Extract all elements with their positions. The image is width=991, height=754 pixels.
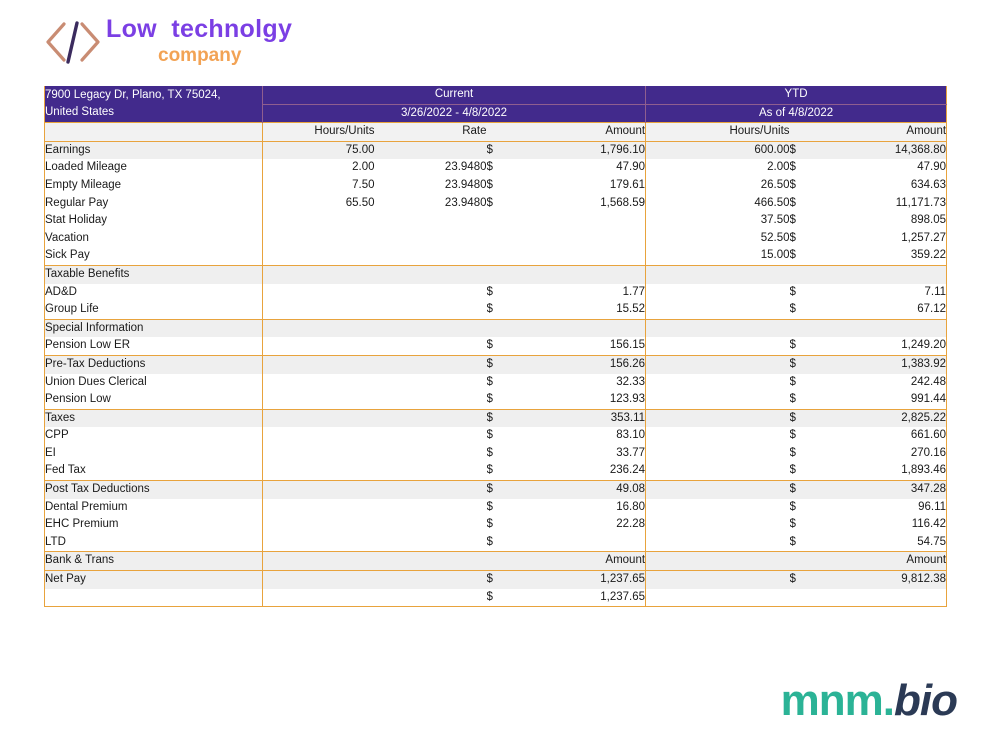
ytd-amount: 67.12: [806, 301, 947, 319]
brand-name-secondary: company: [106, 44, 446, 67]
current-amount: [503, 212, 646, 230]
ytd-hours-units: [646, 337, 790, 355]
brand-wordmark: Low technolgy company: [106, 14, 446, 67]
table-row: Group Life$15.52$67.12: [45, 301, 947, 319]
table-row: $1,237.65: [45, 589, 947, 607]
current-rate: 23.9480: [375, 195, 487, 213]
ytd-hours-units: [646, 552, 790, 571]
table-row: Earnings75.00$1,796.10600.00$14,368.80: [45, 141, 947, 159]
row-label: Pre-Tax Deductions: [45, 355, 263, 373]
current-hours-units: [263, 409, 375, 427]
current-amount: 156.26: [503, 355, 646, 373]
ytd-currency: $: [790, 195, 806, 213]
current-rate: [375, 284, 487, 302]
col-current-currency: [487, 123, 503, 142]
ytd-currency: $: [790, 301, 806, 319]
current-amount: [503, 319, 646, 337]
current-amount: 33.77: [503, 445, 646, 463]
row-label: Sick Pay: [45, 247, 263, 265]
row-label: Group Life: [45, 301, 263, 319]
current-hours-units: [263, 374, 375, 392]
row-label: Loaded Mileage: [45, 159, 263, 177]
current-amount: [503, 534, 646, 552]
current-amount: 1.77: [503, 284, 646, 302]
current-rate: [375, 265, 487, 283]
ytd-currency: $: [790, 159, 806, 177]
ytd-hours-units: [646, 427, 790, 445]
code-brackets-icon: [44, 20, 102, 64]
current-rate: [375, 212, 487, 230]
current-rate: [375, 301, 487, 319]
current-rate: [375, 337, 487, 355]
table-row: Fed Tax$236.24$1,893.46: [45, 462, 947, 480]
current-currency: $: [487, 462, 503, 480]
table-row: LTD$$54.75: [45, 534, 947, 552]
current-rate: 23.9480: [375, 177, 487, 195]
ytd-amount: 347.28: [806, 481, 947, 499]
current-hours-units: [263, 337, 375, 355]
current-currency: $: [487, 499, 503, 517]
row-label: Union Dues Clerical: [45, 374, 263, 392]
ytd-currency: $: [790, 374, 806, 392]
brand-name-primary: Low technolgy: [106, 14, 446, 44]
current-rate: [375, 462, 487, 480]
table-row: EHC Premium$22.28$116.42: [45, 516, 947, 534]
current-hours-units: [263, 481, 375, 499]
ytd-hours-units: 466.50: [646, 195, 790, 213]
table-row: Special Information: [45, 319, 947, 337]
row-label: LTD: [45, 534, 263, 552]
table-row: Taxable Benefits: [45, 265, 947, 283]
current-rate: [375, 427, 487, 445]
current-currency: $: [487, 141, 503, 159]
ytd-currency: $: [790, 571, 806, 589]
current-currency: [487, 319, 503, 337]
current-rate: [375, 534, 487, 552]
ytd-currency: $: [790, 516, 806, 534]
col-current-hours-units: Hours/Units: [263, 123, 375, 142]
current-amount: 1,796.10: [503, 141, 646, 159]
ytd-hours-units: [646, 445, 790, 463]
current-currency: $: [487, 534, 503, 552]
current-rate: [375, 499, 487, 517]
ytd-hours-units: [646, 534, 790, 552]
row-label: Special Information: [45, 319, 263, 337]
current-hours-units: [263, 589, 375, 607]
ytd-amount: 242.48: [806, 374, 947, 392]
current-currency: $: [487, 355, 503, 373]
current-currency: $: [487, 427, 503, 445]
ytd-hours-units: [646, 391, 790, 409]
current-currency: [487, 265, 503, 283]
current-hours-units: 65.50: [263, 195, 375, 213]
col-ytd-amount: Amount: [806, 123, 947, 142]
current-rate: [375, 391, 487, 409]
ytd-amount: 2,825.22: [806, 409, 947, 427]
current-amount: 16.80: [503, 499, 646, 517]
row-label: Taxes: [45, 409, 263, 427]
ytd-hours-units: [646, 481, 790, 499]
ytd-currency: [790, 265, 806, 283]
ytd-amount: Amount: [806, 552, 947, 571]
current-amount: 83.10: [503, 427, 646, 445]
col-current-rate: Rate: [375, 123, 487, 142]
current-currency: [487, 247, 503, 265]
col-current-amount: Amount: [503, 123, 646, 142]
ytd-hours-units: [646, 284, 790, 302]
ytd-currency: $: [790, 427, 806, 445]
ytd-hours-units: [646, 301, 790, 319]
ytd-amount: [806, 265, 947, 283]
current-hours-units: [263, 552, 375, 571]
current-rate: [375, 374, 487, 392]
table-row: Empty Mileage7.5023.9480$179.6126.50$634…: [45, 177, 947, 195]
ytd-currency: $: [790, 284, 806, 302]
row-label: EI: [45, 445, 263, 463]
row-label: Empty Mileage: [45, 177, 263, 195]
table-row: Stat Holiday37.50$898.05: [45, 212, 947, 230]
row-label: Stat Holiday: [45, 212, 263, 230]
current-rate: [375, 516, 487, 534]
ytd-currency: [790, 589, 806, 607]
row-label: Pension Low ER: [45, 337, 263, 355]
current-hours-units: [263, 462, 375, 480]
ytd-currency: $: [790, 177, 806, 195]
ytd-period: As of 4/8/2022: [646, 104, 947, 123]
current-rate: [375, 247, 487, 265]
current-currency: $: [487, 445, 503, 463]
employer-address-line2: United States: [45, 104, 262, 122]
current-amount: 32.33: [503, 374, 646, 392]
blank-corner-cell: [45, 123, 263, 142]
row-label: Fed Tax: [45, 462, 263, 480]
ytd-amount: 359.22: [806, 247, 947, 265]
current-currency: $: [487, 409, 503, 427]
ytd-amount: 9,812.38: [806, 571, 947, 589]
current-rate: [375, 445, 487, 463]
current-hours-units: [263, 212, 375, 230]
current-amount: 179.61: [503, 177, 646, 195]
ytd-amount: 11,171.73: [806, 195, 947, 213]
row-label: Earnings: [45, 141, 263, 159]
row-label: Regular Pay: [45, 195, 263, 213]
current-hours-units: [263, 516, 375, 534]
row-label: EHC Premium: [45, 516, 263, 534]
current-currency: $: [487, 571, 503, 589]
ytd-amount: 14,368.80: [806, 141, 947, 159]
row-label: Net Pay: [45, 571, 263, 589]
ytd-amount: 116.42: [806, 516, 947, 534]
ytd-hours-units: [646, 462, 790, 480]
current-rate: [375, 552, 487, 571]
current-hours-units: [263, 445, 375, 463]
ytd-group-title: YTD: [646, 86, 947, 104]
ytd-amount: 898.05: [806, 212, 947, 230]
table-header: 7900 Legacy Dr, Plano, TX 75024, United …: [45, 86, 947, 141]
current-amount: 353.11: [503, 409, 646, 427]
current-amount: [503, 230, 646, 248]
current-rate: [375, 589, 487, 607]
table-row: Taxes$353.11$2,825.22: [45, 409, 947, 427]
ytd-hours-units: 26.50: [646, 177, 790, 195]
current-currency: $: [487, 195, 503, 213]
table-row: EI$33.77$270.16: [45, 445, 947, 463]
current-currency: $: [487, 516, 503, 534]
ytd-amount: 270.16: [806, 445, 947, 463]
table-body: Earnings75.00$1,796.10600.00$14,368.80Lo…: [45, 141, 947, 606]
current-hours-units: [263, 355, 375, 373]
ytd-amount: 7.11: [806, 284, 947, 302]
ytd-amount: 96.11: [806, 499, 947, 517]
ytd-currency: $: [790, 409, 806, 427]
header-row-titles: 7900 Legacy Dr, Plano, TX 75024, United …: [45, 86, 947, 104]
current-rate: [375, 571, 487, 589]
current-amount: 1,237.65: [503, 589, 646, 607]
ytd-amount: 1,383.92: [806, 355, 947, 373]
employer-address: 7900 Legacy Dr, Plano, TX 75024, United …: [45, 86, 263, 123]
ytd-amount: 634.63: [806, 177, 947, 195]
current-amount: 49.08: [503, 481, 646, 499]
ytd-hours-units: [646, 589, 790, 607]
current-hours-units: 2.00: [263, 159, 375, 177]
header-row-columns: Hours/Units Rate Amount Hours/Units Amou…: [45, 123, 947, 142]
brand-header: Low technolgy company: [44, 14, 464, 76]
ytd-amount: 54.75: [806, 534, 947, 552]
table-row: Pension Low ER$156.15$1,249.20: [45, 337, 947, 355]
current-amount: Amount: [503, 552, 646, 571]
ytd-currency: $: [790, 212, 806, 230]
ytd-hours-units: [646, 516, 790, 534]
table-row: Union Dues Clerical$32.33$242.48: [45, 374, 947, 392]
current-hours-units: [263, 284, 375, 302]
current-currency: $: [487, 481, 503, 499]
ytd-currency: $: [790, 462, 806, 480]
ytd-amount: [806, 589, 947, 607]
current-hours-units: [263, 427, 375, 445]
ytd-hours-units: 52.50: [646, 230, 790, 248]
table-row: Vacation52.50$1,257.27: [45, 230, 947, 248]
ytd-amount: 991.44: [806, 391, 947, 409]
row-label: Pension Low: [45, 391, 263, 409]
row-label: AD&D: [45, 284, 263, 302]
footer-logo-mnm: mnm: [781, 676, 883, 725]
current-amount: 236.24: [503, 462, 646, 480]
ytd-amount: 1,893.46: [806, 462, 947, 480]
ytd-amount: 1,249.20: [806, 337, 947, 355]
table-row: Pension Low$123.93$991.44: [45, 391, 947, 409]
current-amount: [503, 265, 646, 283]
table-row: Post Tax Deductions$49.08$347.28: [45, 481, 947, 499]
ytd-amount: 47.90: [806, 159, 947, 177]
ytd-amount: 1,257.27: [806, 230, 947, 248]
current-currency: [487, 552, 503, 571]
current-amount: 22.28: [503, 516, 646, 534]
table-row: Regular Pay65.5023.9480$1,568.59466.50$1…: [45, 195, 947, 213]
ytd-currency: [790, 552, 806, 571]
row-label: [45, 589, 263, 607]
current-amount: 123.93: [503, 391, 646, 409]
current-rate: 23.9480: [375, 159, 487, 177]
footer-logo-bio: bio: [894, 676, 957, 725]
ytd-amount: 661.60: [806, 427, 947, 445]
row-label: Vacation: [45, 230, 263, 248]
ytd-currency: $: [790, 499, 806, 517]
table-row: AD&D$1.77$7.11: [45, 284, 947, 302]
current-hours-units: 7.50: [263, 177, 375, 195]
row-label: Taxable Benefits: [45, 265, 263, 283]
current-currency: $: [487, 177, 503, 195]
table-row: CPP$83.10$661.60: [45, 427, 947, 445]
row-label: Dental Premium: [45, 499, 263, 517]
ytd-hours-units: [646, 499, 790, 517]
table-row: Bank & TransAmountAmount: [45, 552, 947, 571]
ytd-hours-units: 600.00: [646, 141, 790, 159]
ytd-currency: $: [790, 391, 806, 409]
current-hours-units: [263, 230, 375, 248]
current-currency: $: [487, 301, 503, 319]
current-hours-units: [263, 319, 375, 337]
ytd-hours-units: [646, 265, 790, 283]
current-rate: [375, 481, 487, 499]
employer-address-line1: 7900 Legacy Dr, Plano, TX 75024,: [45, 87, 262, 105]
current-hours-units: [263, 265, 375, 283]
current-currency: $: [487, 589, 503, 607]
current-hours-units: [263, 571, 375, 589]
row-label: Bank & Trans: [45, 552, 263, 571]
ytd-hours-units: 2.00: [646, 159, 790, 177]
current-amount: 47.90: [503, 159, 646, 177]
current-rate: [375, 319, 487, 337]
ytd-hours-units: [646, 374, 790, 392]
table-row: Loaded Mileage2.0023.9480$47.902.00$47.9…: [45, 159, 947, 177]
ytd-currency: [790, 319, 806, 337]
current-rate: [375, 230, 487, 248]
ytd-currency: $: [790, 247, 806, 265]
current-period: 3/26/2022 - 4/8/2022: [263, 104, 646, 123]
current-amount: 1,237.65: [503, 571, 646, 589]
ytd-currency: $: [790, 534, 806, 552]
current-rate: [375, 409, 487, 427]
current-currency: $: [487, 391, 503, 409]
ytd-currency: $: [790, 141, 806, 159]
footer-logo: mnm.bio: [781, 676, 957, 726]
ytd-amount: [806, 319, 947, 337]
ytd-hours-units: [646, 409, 790, 427]
current-currency: $: [487, 159, 503, 177]
current-currency: [487, 230, 503, 248]
current-hours-units: [263, 534, 375, 552]
current-currency: $: [487, 337, 503, 355]
current-hours-units: 75.00: [263, 141, 375, 159]
current-amount: 1,568.59: [503, 195, 646, 213]
current-currency: $: [487, 374, 503, 392]
current-hours-units: [263, 499, 375, 517]
current-currency: $: [487, 284, 503, 302]
table-row: Pre-Tax Deductions$156.26$1,383.92: [45, 355, 947, 373]
table-row: Sick Pay15.00$359.22: [45, 247, 947, 265]
current-amount: 156.15: [503, 337, 646, 355]
col-ytd-hours-units: Hours/Units: [646, 123, 790, 142]
ytd-hours-units: [646, 319, 790, 337]
ytd-currency: $: [790, 355, 806, 373]
col-ytd-currency: [790, 123, 806, 142]
ytd-currency: $: [790, 337, 806, 355]
pay-statement-table: 7900 Legacy Dr, Plano, TX 75024, United …: [44, 86, 947, 607]
current-amount: 15.52: [503, 301, 646, 319]
ytd-hours-units: 37.50: [646, 212, 790, 230]
ytd-hours-units: [646, 571, 790, 589]
current-hours-units: [263, 391, 375, 409]
current-amount: [503, 247, 646, 265]
current-group-title: Current: [263, 86, 646, 104]
row-label: Post Tax Deductions: [45, 481, 263, 499]
ytd-currency: $: [790, 481, 806, 499]
current-currency: [487, 212, 503, 230]
ytd-currency: $: [790, 445, 806, 463]
current-rate: [375, 355, 487, 373]
current-rate: [375, 141, 487, 159]
current-hours-units: [263, 247, 375, 265]
row-label: CPP: [45, 427, 263, 445]
footer-logo-dot: .: [883, 676, 894, 725]
ytd-hours-units: 15.00: [646, 247, 790, 265]
ytd-currency: $: [790, 230, 806, 248]
ytd-hours-units: [646, 355, 790, 373]
table-row: Net Pay$1,237.65$9,812.38: [45, 571, 947, 589]
current-hours-units: [263, 301, 375, 319]
table-row: Dental Premium$16.80$96.11: [45, 499, 947, 517]
